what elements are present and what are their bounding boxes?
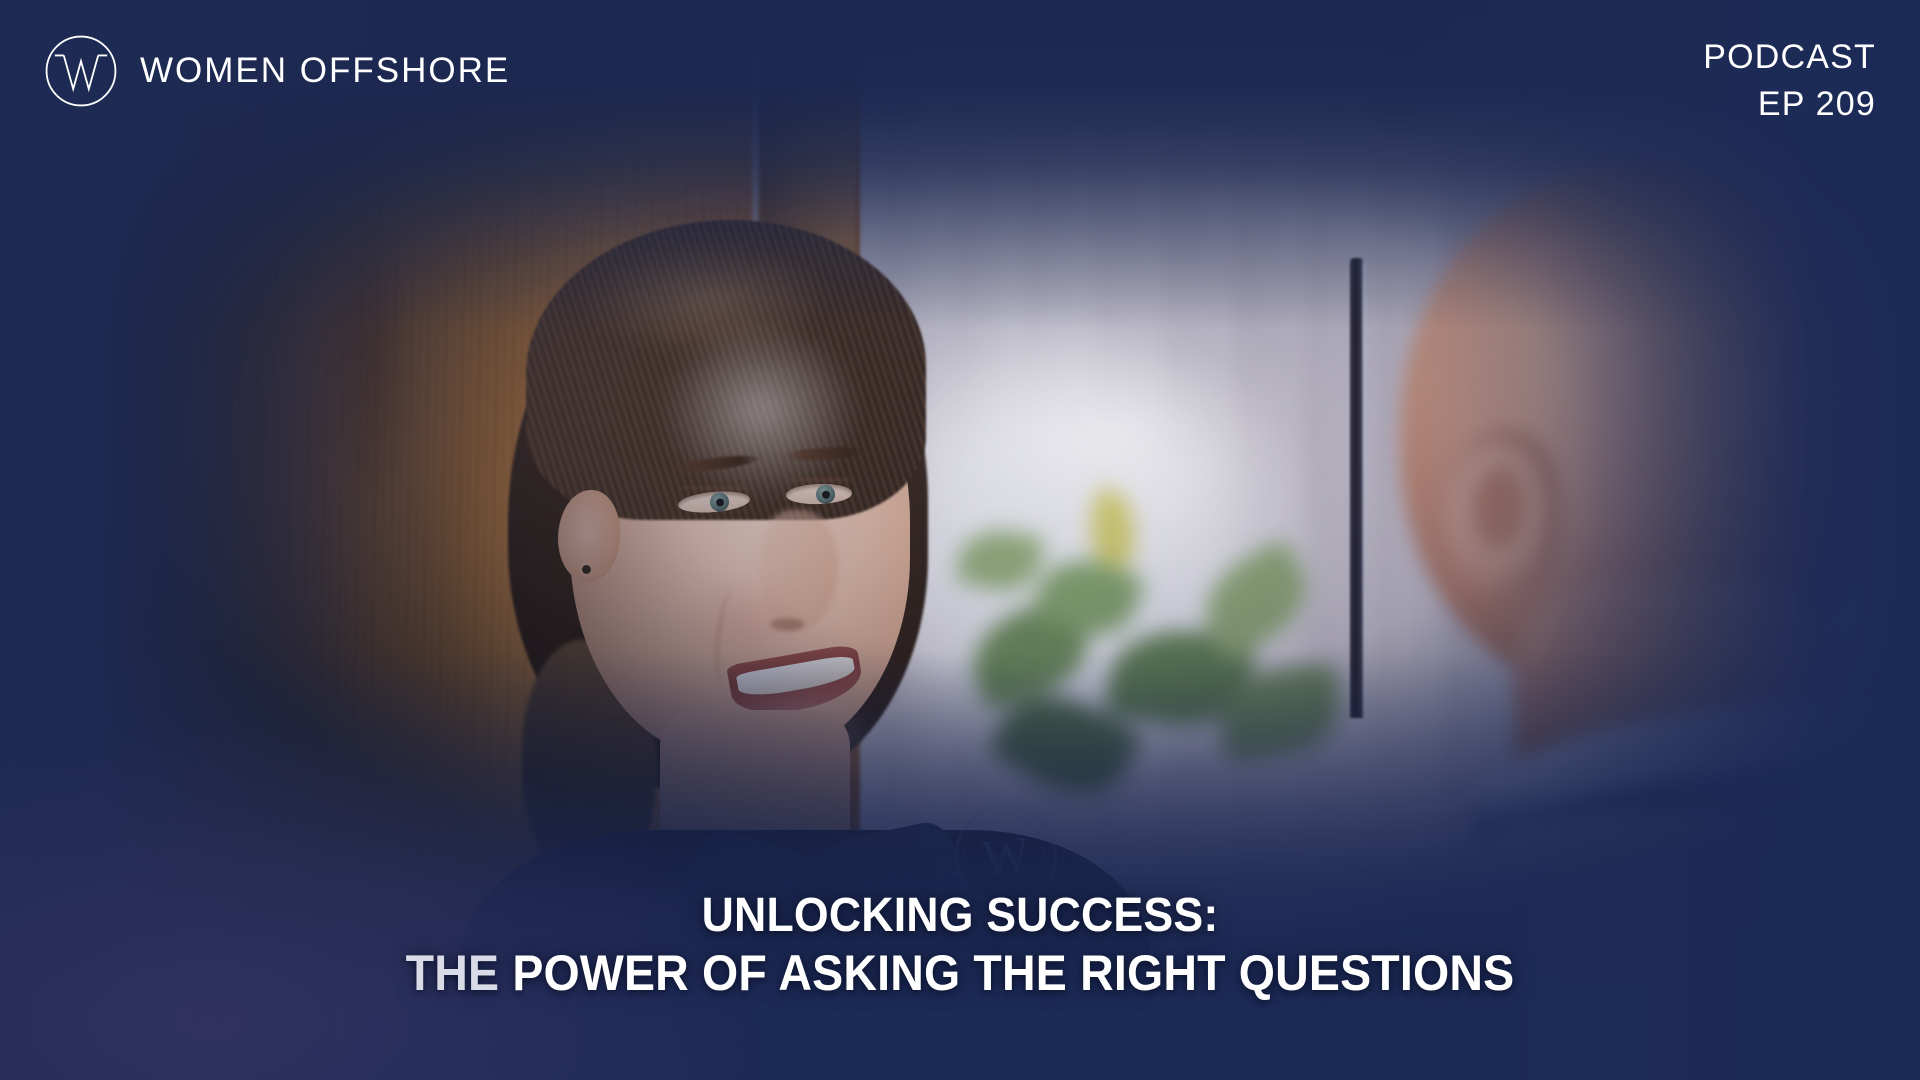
title-line-2: THE POWER OF ASKING THE RIGHT QUESTIONS — [104, 944, 1815, 1002]
title-line-1: UNLOCKING SUCCESS: — [104, 888, 1815, 944]
women-offshore-logo-icon — [40, 30, 122, 112]
episode-title: UNLOCKING SUCCESS: THE POWER OF ASKING T… — [0, 888, 1920, 1002]
podcast-cover-artwork: W WOMEN OFFSHORE PODCAST EP 209 UNLOCKIN… — [0, 0, 1920, 1080]
brand-name: WOMEN OFFSHORE — [140, 51, 510, 91]
episode-label: PODCAST EP 209 — [1703, 34, 1876, 128]
episode-number: EP 209 — [1703, 81, 1876, 128]
podcast-label: PODCAST — [1703, 34, 1876, 81]
title-line-2-lead: THE — [406, 945, 500, 1001]
brand-lockup[interactable]: WOMEN OFFSHORE — [40, 30, 510, 112]
title-line-2-rest: POWER OF ASKING THE RIGHT QUESTIONS — [499, 945, 1514, 1001]
